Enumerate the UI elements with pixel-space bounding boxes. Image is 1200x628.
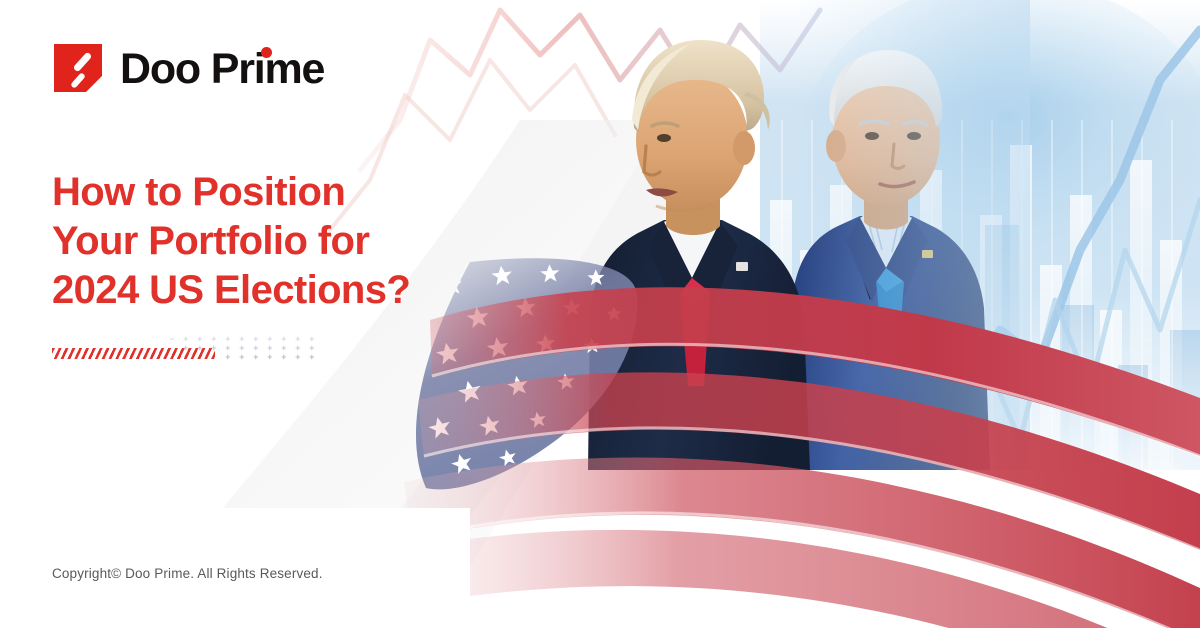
- headline-line-2: Your Portfolio for: [52, 217, 410, 266]
- brand-name: Doo Prime: [120, 48, 324, 91]
- page-title: How to Position Your Portfolio for 2024 …: [52, 168, 410, 316]
- brand-name-text: Doo Prime: [120, 45, 324, 93]
- doo-prime-square-mark-icon: [52, 42, 104, 94]
- decorative-divider: [52, 341, 310, 361]
- brand-logo[interactable]: Doo Prime: [52, 42, 324, 94]
- headline-line-1: How to Position: [52, 168, 410, 217]
- logo-i-dot-icon: [261, 47, 272, 58]
- banner-canvas: Doo Prime How to Position Your Portfolio…: [0, 0, 1200, 628]
- copyright-text: Copyright© Doo Prime. All Rights Reserve…: [52, 566, 323, 581]
- headline-line-3: 2024 US Elections?: [52, 266, 410, 315]
- plus-dot-grid-icon: [168, 336, 318, 362]
